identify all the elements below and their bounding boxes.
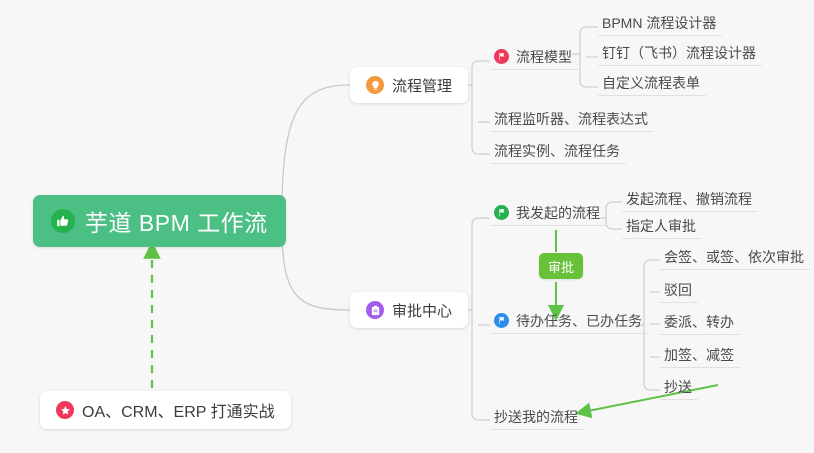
node-label: 流程监听器、流程表达式 xyxy=(494,109,648,129)
node-todo-done-task[interactable]: 待办任务、已办任务 xyxy=(490,308,648,334)
leaf-countersign[interactable]: 会签、或签、依次审批 xyxy=(660,244,810,270)
node-label: 待办任务、已办任务 xyxy=(516,311,642,331)
node-my-started-process[interactable]: 我发起的流程 xyxy=(490,200,606,226)
leaf-add-remove-sign[interactable]: 加签、减签 xyxy=(660,342,740,368)
leaf-start-cancel-process[interactable]: 发起流程、撤销流程 xyxy=(622,186,758,212)
leaf-label: 发起流程、撤销流程 xyxy=(626,189,752,209)
leaf-label: 驳回 xyxy=(664,280,692,300)
leaf-label: 自定义流程表单 xyxy=(602,73,700,93)
flag-blue-icon xyxy=(494,313,509,328)
node-label: OA、CRM、ERP 打通实战 xyxy=(82,398,275,422)
node-label: 抄送我的流程 xyxy=(494,407,578,427)
node-label: 我发起的流程 xyxy=(516,203,600,223)
star-icon xyxy=(56,401,74,419)
clipboard-icon xyxy=(366,301,384,319)
leaf-delegate-transfer[interactable]: 委派、转办 xyxy=(660,309,740,335)
node-integration-practice[interactable]: OA、CRM、ERP 打通实战 xyxy=(40,391,291,429)
node-label: 流程实例、流程任务 xyxy=(494,141,620,161)
root-label: 芋道 BPM 工作流 xyxy=(85,204,268,238)
node-label: 流程模型 xyxy=(516,47,572,67)
leaf-label: 钉钉（飞书）流程设计器 xyxy=(602,43,756,63)
leaf-label: 加签、减签 xyxy=(664,345,734,365)
branch-label: 审批中心 xyxy=(392,300,452,321)
leaf-assignee-approval[interactable]: 指定人审批 xyxy=(622,213,702,239)
flag-green-icon xyxy=(494,205,509,220)
lightbulb-icon xyxy=(366,76,384,94)
mindmap-canvas: 芋道 BPM 工作流 流程管理 流程模型 BPMN 流程设计器 钉钉（飞书）流程… xyxy=(0,0,814,453)
annotation-label: 审批 xyxy=(548,257,574,276)
node-process-model[interactable]: 流程模型 xyxy=(490,44,578,70)
leaf-custom-process-form[interactable]: 自定义流程表单 xyxy=(598,70,706,96)
leaf-label: 委派、转办 xyxy=(664,312,734,332)
leaf-reject[interactable]: 驳回 xyxy=(660,277,698,303)
leaf-bpmn-designer[interactable]: BPMN 流程设计器 xyxy=(598,10,722,36)
thumbs-up-icon xyxy=(51,209,75,233)
branch-label: 流程管理 xyxy=(392,75,452,96)
branch-approval-center[interactable]: 审批中心 xyxy=(350,292,468,328)
leaf-dingtalk-feishu-designer[interactable]: 钉钉（飞书）流程设计器 xyxy=(598,40,762,66)
node-listener-expression[interactable]: 流程监听器、流程表达式 xyxy=(490,106,654,132)
annotation-approval-tag: 审批 xyxy=(539,253,583,279)
leaf-cc[interactable]: 抄送 xyxy=(660,374,698,400)
leaf-label: BPMN 流程设计器 xyxy=(602,13,716,33)
node-instance-task[interactable]: 流程实例、流程任务 xyxy=(490,138,626,164)
flag-red-icon xyxy=(494,49,509,64)
root-node[interactable]: 芋道 BPM 工作流 xyxy=(33,195,286,247)
node-cc-to-me-process[interactable]: 抄送我的流程 xyxy=(490,404,584,430)
leaf-label: 会签、或签、依次审批 xyxy=(664,247,804,267)
leaf-label: 抄送 xyxy=(664,377,692,397)
branch-process-management[interactable]: 流程管理 xyxy=(350,67,468,103)
leaf-label: 指定人审批 xyxy=(626,216,696,236)
